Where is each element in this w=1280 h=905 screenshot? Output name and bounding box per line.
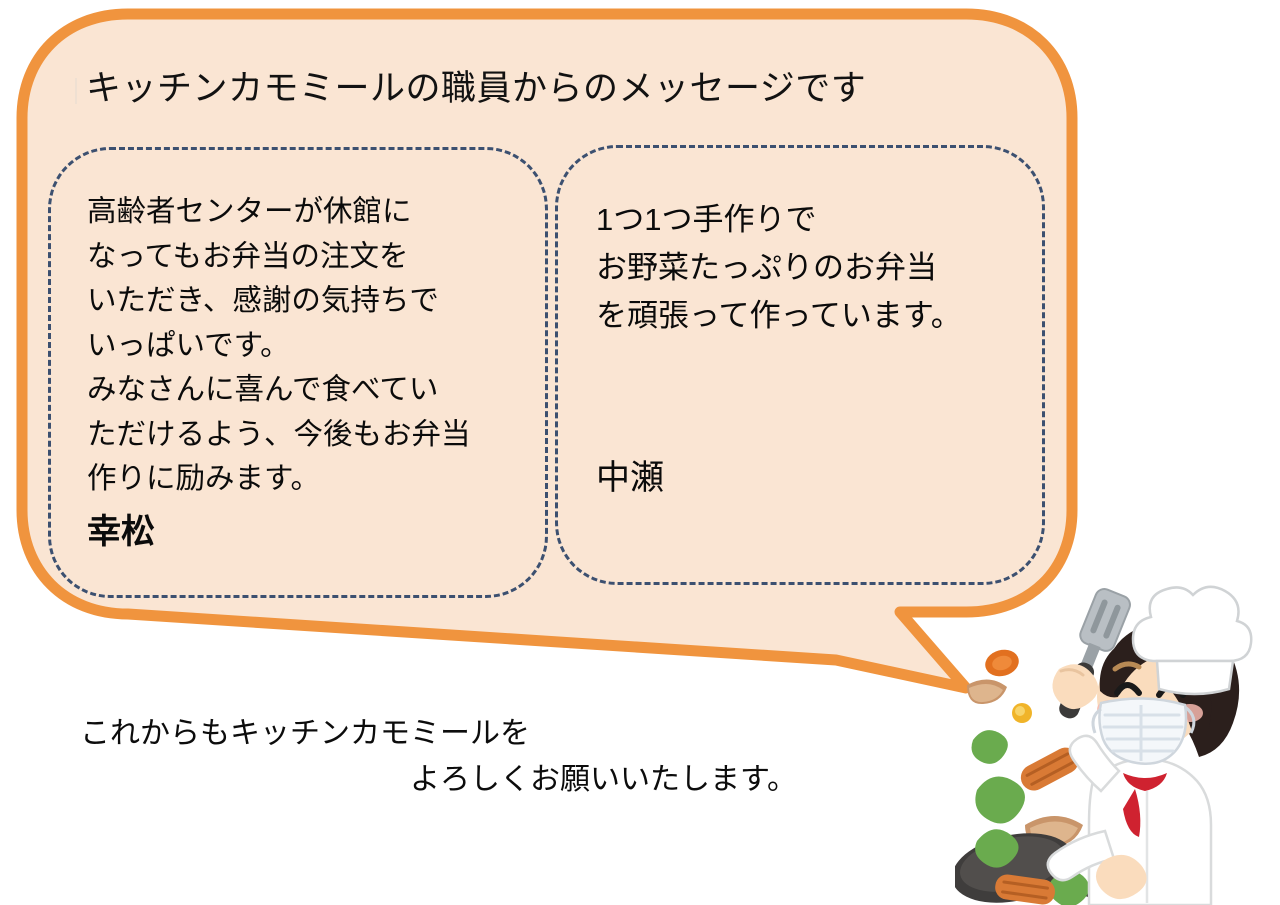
closing-line-1: これからもキッチンカモミールを [80, 716, 530, 752]
broccoli-icon-2 [975, 777, 1025, 824]
note-left-signature: 幸松 [87, 512, 155, 552]
note-left-body: 高齢者センターが休館に なってもお弁当の注文を いただき、感謝の気持ちで いっぱ… [87, 190, 471, 502]
bubble-content: キッチンカモミールの職員からのメッセージです 高齢者センターが休館に なってもお… [18, 12, 1076, 615]
chef-cooking-illustration [955, 585, 1280, 905]
closing-line-2: よろしくお願いいたします。 [410, 762, 797, 798]
note-card-left: 高齢者センターが休館に なってもお弁当の注文を いただき、感謝の気持ちで いっぱ… [48, 147, 548, 598]
face-mask-icon [1093, 698, 1194, 763]
note-right-body: 1つ1つ手作りで お野菜たっぷりのお弁当 を頑張って作っています。 [596, 196, 962, 340]
text-caret-artifact [75, 78, 77, 104]
broccoli-icon-1 [972, 730, 1008, 764]
note-card-right: 1つ1つ手作りで お野菜たっぷりのお弁当 を頑張って作っています。 中瀬 [555, 145, 1045, 585]
bubble-title: キッチンカモミールの職員からのメッセージです [86, 70, 866, 109]
note-right-signature: 中瀬 [596, 458, 664, 498]
